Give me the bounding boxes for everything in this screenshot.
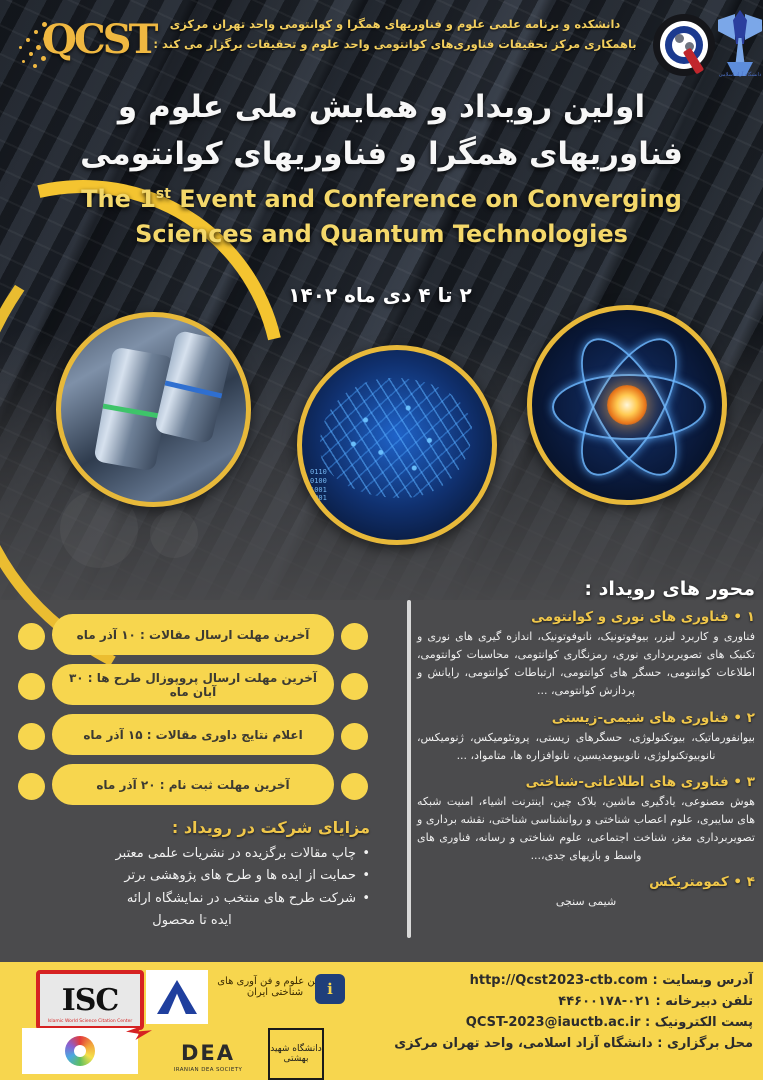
venue-value: دانشگاه آزاد اسلامی، واحد تهران مرکزی (394, 1036, 653, 1051)
shahid-beheshti-logo: دانشگاه شهید بهشتی (268, 1028, 324, 1080)
topic-title: ۱ • فناوری های نوری و کوانتومی (417, 609, 755, 625)
topic-item: ۱ • فناوری های نوری و کوانتومی فناوری و … (417, 609, 755, 701)
deadline-pill: آخرین مهلت ثبت نام : ۲۰ آذر ماه (52, 764, 334, 805)
topic-title: ۴ • کمومتریکس (417, 874, 755, 890)
deadline-dot (341, 723, 368, 750)
brain-circuitry (320, 378, 472, 498)
azad-university-logo: دانشگاه آزاد اسلامی (718, 10, 762, 84)
topic-body: بیوانفورماتیک، بیوتکنولوژی، حسگرهای زیست… (417, 729, 755, 765)
binary-code-overlay: 0110010010011001 (310, 468, 327, 503)
dea-society-logo: DEA IRANIAN DEA SOCIETY (156, 1032, 260, 1074)
isc-logo: ISC Islamic World Science Citation Cente… (36, 970, 144, 1030)
topics-heading: محور های رویداد : (417, 578, 755, 600)
persian-title: اولین رویداد و همایش ملی علوم و فناوریها… (60, 84, 703, 177)
microscope-photo (56, 312, 251, 507)
cognitive-emblem (157, 980, 197, 1014)
shahid-beheshti-text: دانشگاه شهید بهشتی (270, 1044, 322, 1065)
column-divider (407, 600, 411, 938)
organizer-text: دانشکده و برنامه علمی علوم و فناوریهای ه… (145, 14, 645, 54)
deadline-text: اعلام نتایج داوری مقالات : ۱۵ آذر ماه (75, 728, 310, 742)
sponsor-logos: ISC Islamic World Science Citation Cente… (6, 966, 336, 1078)
deadline-dot (341, 773, 368, 800)
deadline-pill: آخرین مهلت ارسال پروپوزال طرح ها : ۳۰ آب… (52, 664, 334, 705)
event-date: ۲ تا ۴ دی ماه ۱۴۰۲ (180, 283, 580, 307)
contact-details: آدرس وبسایت : http://Qcst2023-ctb.com تل… (323, 970, 753, 1054)
lightning-bolt-icon (126, 1026, 152, 1040)
topic-item: ۴ • کمومتریکس شیمی سنجی (417, 874, 755, 911)
topic-title: ۲ • فناوری های شیمی-زیستی (417, 710, 755, 726)
deadline-pill: اعلام نتایج داوری مقالات : ۱۵ آذر ماه (52, 714, 334, 755)
topic-label: فناوری های اطلاعاتی-شناختی (526, 774, 729, 790)
gear-icon (675, 34, 684, 43)
topic-body: هوش مصنوعی، یادگیری ماشین، بلاک چین، این… (417, 793, 755, 866)
topic-label: کمومتریکس (649, 874, 729, 890)
email-value[interactable]: QCST-2023@iauctb.ac.ir (466, 1015, 641, 1030)
benefit-item: شرکت طرح های منتخب در نمایشگاه ارائه (14, 888, 370, 910)
benefits-heading: مزایای شرکت در رویداد : (14, 818, 370, 837)
qcst-wordmark: QCST (42, 20, 155, 60)
english-title-rest: Event and Conference on Converging (171, 185, 682, 213)
english-title-pre: The 1 (81, 185, 156, 213)
topics-section: محور های رویداد : ۱ • فناوری های نوری و … (417, 578, 755, 911)
english-title-line-1: The 1st Event and Conference on Convergi… (46, 182, 717, 217)
venue-label: محل برگزاری : (657, 1036, 753, 1051)
azad-logo-label: دانشگاه آزاد اسلامی (718, 72, 762, 78)
university-cognitive-logo (146, 970, 208, 1024)
benefit-item: حمایت از ایده ها و طرح های پژوهشی برتر (14, 865, 370, 887)
deadline-text: آخرین مهلت ثبت نام : ۲۰ آذر ماه (88, 778, 297, 792)
atom-nucleus (607, 385, 647, 425)
english-title-line-2: Sciences and Quantum Technologies (46, 217, 717, 252)
atom-photo (527, 305, 727, 505)
benefits-list: چاپ مقالات برگزیده در نشریات علمی معتبر … (14, 843, 370, 910)
deadline-row: آخرین مهلت ارسال مقالات : ۱۰ آذر ماه (18, 614, 368, 659)
phone-label: تلفن دبیرخانه : (656, 994, 753, 1009)
deadline-dot (18, 623, 45, 650)
english-title: The 1st Event and Conference on Convergi… (46, 182, 717, 252)
topic-body: شیمی سنجی (417, 893, 755, 911)
benefit-item: چاپ مقالات برگزیده در نشریات علمی معتبر (14, 843, 370, 865)
deadline-dot (18, 773, 45, 800)
deadline-pill: آخرین مهلت ارسال مقالات : ۱۰ آذر ماه (52, 614, 334, 655)
deadline-text: آخرین مهلت ارسال مقالات : ۱۰ آذر ماه (69, 628, 318, 642)
phone-value: ۰۲۱-۴۴۶۰۰۱۷۸ (558, 994, 651, 1009)
objective-lens (154, 330, 234, 444)
conference-poster: QCST دانشکده و برنامه علمی علوم و فناوری… (0, 0, 763, 1080)
topic-number: ۴ (747, 874, 755, 890)
deadline-row: آخرین مهلت ثبت نام : ۲۰ آذر ماه (18, 764, 368, 809)
phone-row: تلفن دبیرخانه : ۰۲۱-۴۴۶۰۰۱۷۸ (323, 991, 753, 1012)
topic-item: ۲ • فناوری های شیمی-زیستی بیوانفورماتیک،… (417, 710, 755, 765)
isc-subtitle: Islamic World Science Citation Center (40, 1019, 140, 1024)
benefits-tail: ایده تا محصول (14, 910, 370, 932)
deadline-dot (18, 723, 45, 750)
topic-body: فناوری و کاربرد لیزر، بیوفوتونیک، نانوفو… (417, 628, 755, 701)
venue-row: محل برگزاری : دانشگاه آزاد اسلامی، واحد … (323, 1033, 753, 1054)
benefits-section: مزایای شرکت در رویداد : چاپ مقالات برگزی… (14, 818, 370, 932)
organizer-line-2: باهمکاری مرکز تحقیقات فناوری‌های کوانتوم… (145, 34, 645, 54)
topic-label: فناوری های نوری و کوانتومی (531, 609, 729, 625)
deadline-row: آخرین مهلت ارسال پروپوزال طرح ها : ۳۰ آب… (18, 664, 368, 709)
dea-subtitle: IRANIAN DEA SOCIETY (156, 1067, 260, 1073)
topic-item: ۳ • فناوری های اطلاعاتی-شناختی هوش مصنوع… (417, 774, 755, 866)
topic-number: ۱ (747, 609, 755, 625)
qcst-logo: QCST (10, 12, 132, 74)
topic-number: ۲ (747, 710, 755, 726)
email-row: پست الکترونیک : QCST-2023@iauctb.ac.ir (323, 1012, 753, 1033)
isc-text: ISC (62, 983, 119, 1018)
poster-footer: ISC Islamic World Science Citation Cente… (0, 962, 763, 1080)
website-value[interactable]: http://Qcst2023-ctb.com (470, 973, 648, 988)
topic-number: ۳ (747, 774, 755, 790)
dea-text: DEA (181, 1041, 235, 1065)
website-label: آدرس وبسایت : (652, 973, 753, 988)
circuit-brain-photo: 0110010010011001 (297, 345, 497, 545)
website-row: آدرس وبسایت : http://Qcst2023-ctb.com (323, 970, 753, 991)
poster-header: QCST دانشکده و برنامه علمی علوم و فناوری… (0, 0, 763, 92)
deadline-dot (341, 673, 368, 700)
topic-label: فناوری های شیمی-زیستی (552, 710, 729, 726)
deadlines-section: آخرین مهلت ارسال مقالات : ۱۰ آذر ماه آخر… (18, 614, 368, 814)
color-wheel-icon (65, 1036, 95, 1066)
email-label: پست الکترونیک : (645, 1015, 753, 1030)
power-research-logo (118, 1026, 152, 1046)
deadline-dot (341, 623, 368, 650)
persian-title-line-1: اولین رویداد و همایش ملی علوم و (60, 84, 703, 131)
persian-title-line-2: فناوریهای همگرا و فناوریهای کوانتومی (60, 131, 703, 178)
deadline-dot (18, 673, 45, 700)
deadline-row: اعلام نتایج داوری مقالات : ۱۵ آذر ماه (18, 714, 368, 759)
ordinal-suffix: st (156, 186, 171, 202)
organizer-line-1: دانشکده و برنامه علمی علوم و فناوریهای ه… (145, 14, 645, 34)
quantum-research-center-logo (653, 14, 715, 76)
topic-title: ۳ • فناوری های اطلاعاتی-شناختی (417, 774, 755, 790)
deadline-text: آخرین مهلت ارسال پروپوزال طرح ها : ۳۰ آب… (52, 671, 334, 699)
